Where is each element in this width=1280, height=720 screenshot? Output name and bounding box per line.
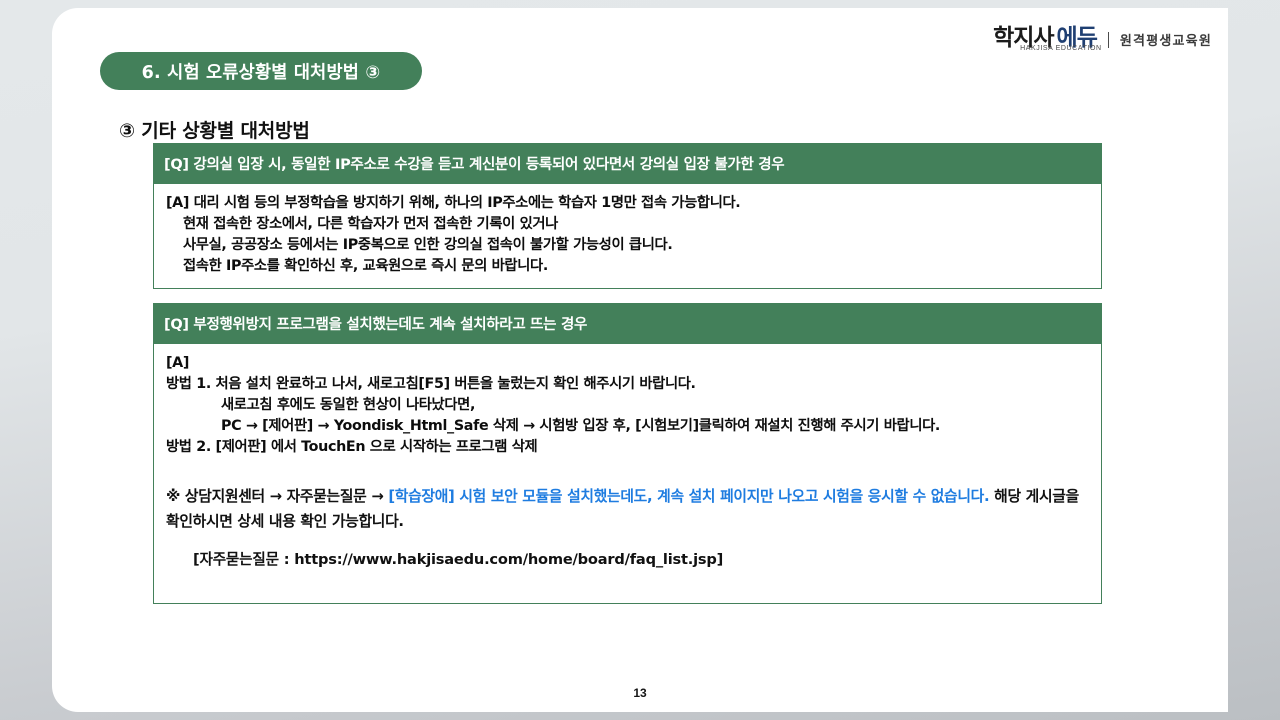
page-title-pill: 6. 시험 오류상황별 대처방법 ③ xyxy=(100,52,422,90)
reference-note: ※ 상담지원센터 → 자주묻는질문 → [학습장애] 시험 보안 모듈을 설치했… xyxy=(166,484,1089,534)
answer-body-2: [A] 방법 1. 처음 설치 완료하고 나서, 새로고침[F5] 버튼을 눌렀… xyxy=(153,344,1102,604)
answer-line: 방법 1. 처음 설치 완료하고 나서, 새로고침[F5] 버튼을 눌렀는지 확… xyxy=(166,374,1089,395)
answer-line: 접속한 IP주소를 확인하신 후, 교육원으로 즉시 문의 바랍니다. xyxy=(166,256,1089,277)
answer-line: 방법 2. [제어판] 에서 TouchEn 으로 시작하는 프로그램 삭제 xyxy=(166,437,1089,458)
question-text-1: [Q] 강의실 입장 시, 동일한 IP주소로 수강을 듣고 계신분이 등록되어… xyxy=(164,153,784,174)
page-title: 6. 시험 오류상황별 대처방법 ③ xyxy=(142,59,381,84)
question-text-2: [Q] 부정행위방지 프로그램을 설치했는데도 계속 설치하라고 뜨는 경우 xyxy=(164,313,587,334)
spacer xyxy=(166,534,1089,548)
page-number: 13 xyxy=(52,686,1228,700)
slide-canvas: 학지사에듀 HAKJISA EDUCATION 원격평생교육원 6. 시험 오류… xyxy=(52,8,1228,712)
spacer xyxy=(166,458,1089,484)
answer-line: 현재 접속한 장소에서, 다른 학습자가 먼저 접속한 기록이 있거나 xyxy=(166,214,1089,235)
logo-divider xyxy=(1108,32,1109,48)
answer-line: PC → [제어판] → Yoondisk_Html_Safe 삭제 → 시험방… xyxy=(166,416,1089,437)
faq-url-line[interactable]: [자주묻는질문 : https://www.hakjisaedu.com/hom… xyxy=(166,548,1089,569)
question-bar-1: [Q] 강의실 입장 시, 동일한 IP주소로 수강을 듣고 계신분이 등록되어… xyxy=(153,143,1102,184)
reference-note-highlight: [학습장애] 시험 보안 모듈을 설치했는데도, 계속 설치 페이지만 나오고 … xyxy=(388,488,989,505)
logo-english-text: HAKJISA EDUCATION xyxy=(1020,45,1102,52)
answer-line: 사무실, 공공장소 등에서는 IP중복으로 인한 강의실 접속이 불가할 가능성… xyxy=(166,235,1089,256)
answer-body-1: [A] 대리 시험 등의 부정학습을 방지하기 위해, 하나의 IP주소에는 학… xyxy=(153,184,1102,289)
question-bar-2: [Q] 부정행위방지 프로그램을 설치했는데도 계속 설치하라고 뜨는 경우 xyxy=(153,303,1102,344)
logo-subtitle: 원격평생교육원 xyxy=(1120,35,1212,48)
brand-logo: 학지사에듀 HAKJISA EDUCATION 원격평생교육원 xyxy=(993,16,1212,50)
section-heading: ③ 기타 상황별 대처방법 xyxy=(119,116,310,143)
answer-line: 새로고침 후에도 동일한 현상이 나타났다면, xyxy=(166,395,1089,416)
answer-line: [A] xyxy=(166,353,1089,374)
qa-block-1: [Q] 강의실 입장 시, 동일한 IP주소로 수강을 듣고 계신분이 등록되어… xyxy=(153,143,1102,289)
answer-line: [A] 대리 시험 등의 부정학습을 방지하기 위해, 하나의 IP주소에는 학… xyxy=(166,193,1089,214)
logo-mark: 학지사에듀 HAKJISA EDUCATION xyxy=(993,27,1097,50)
qa-block-2: [Q] 부정행위방지 프로그램을 설치했는데도 계속 설치하라고 뜨는 경우 [… xyxy=(153,303,1102,604)
reference-note-prefix: ※ 상담지원센터 → 자주묻는질문 → xyxy=(166,488,388,505)
